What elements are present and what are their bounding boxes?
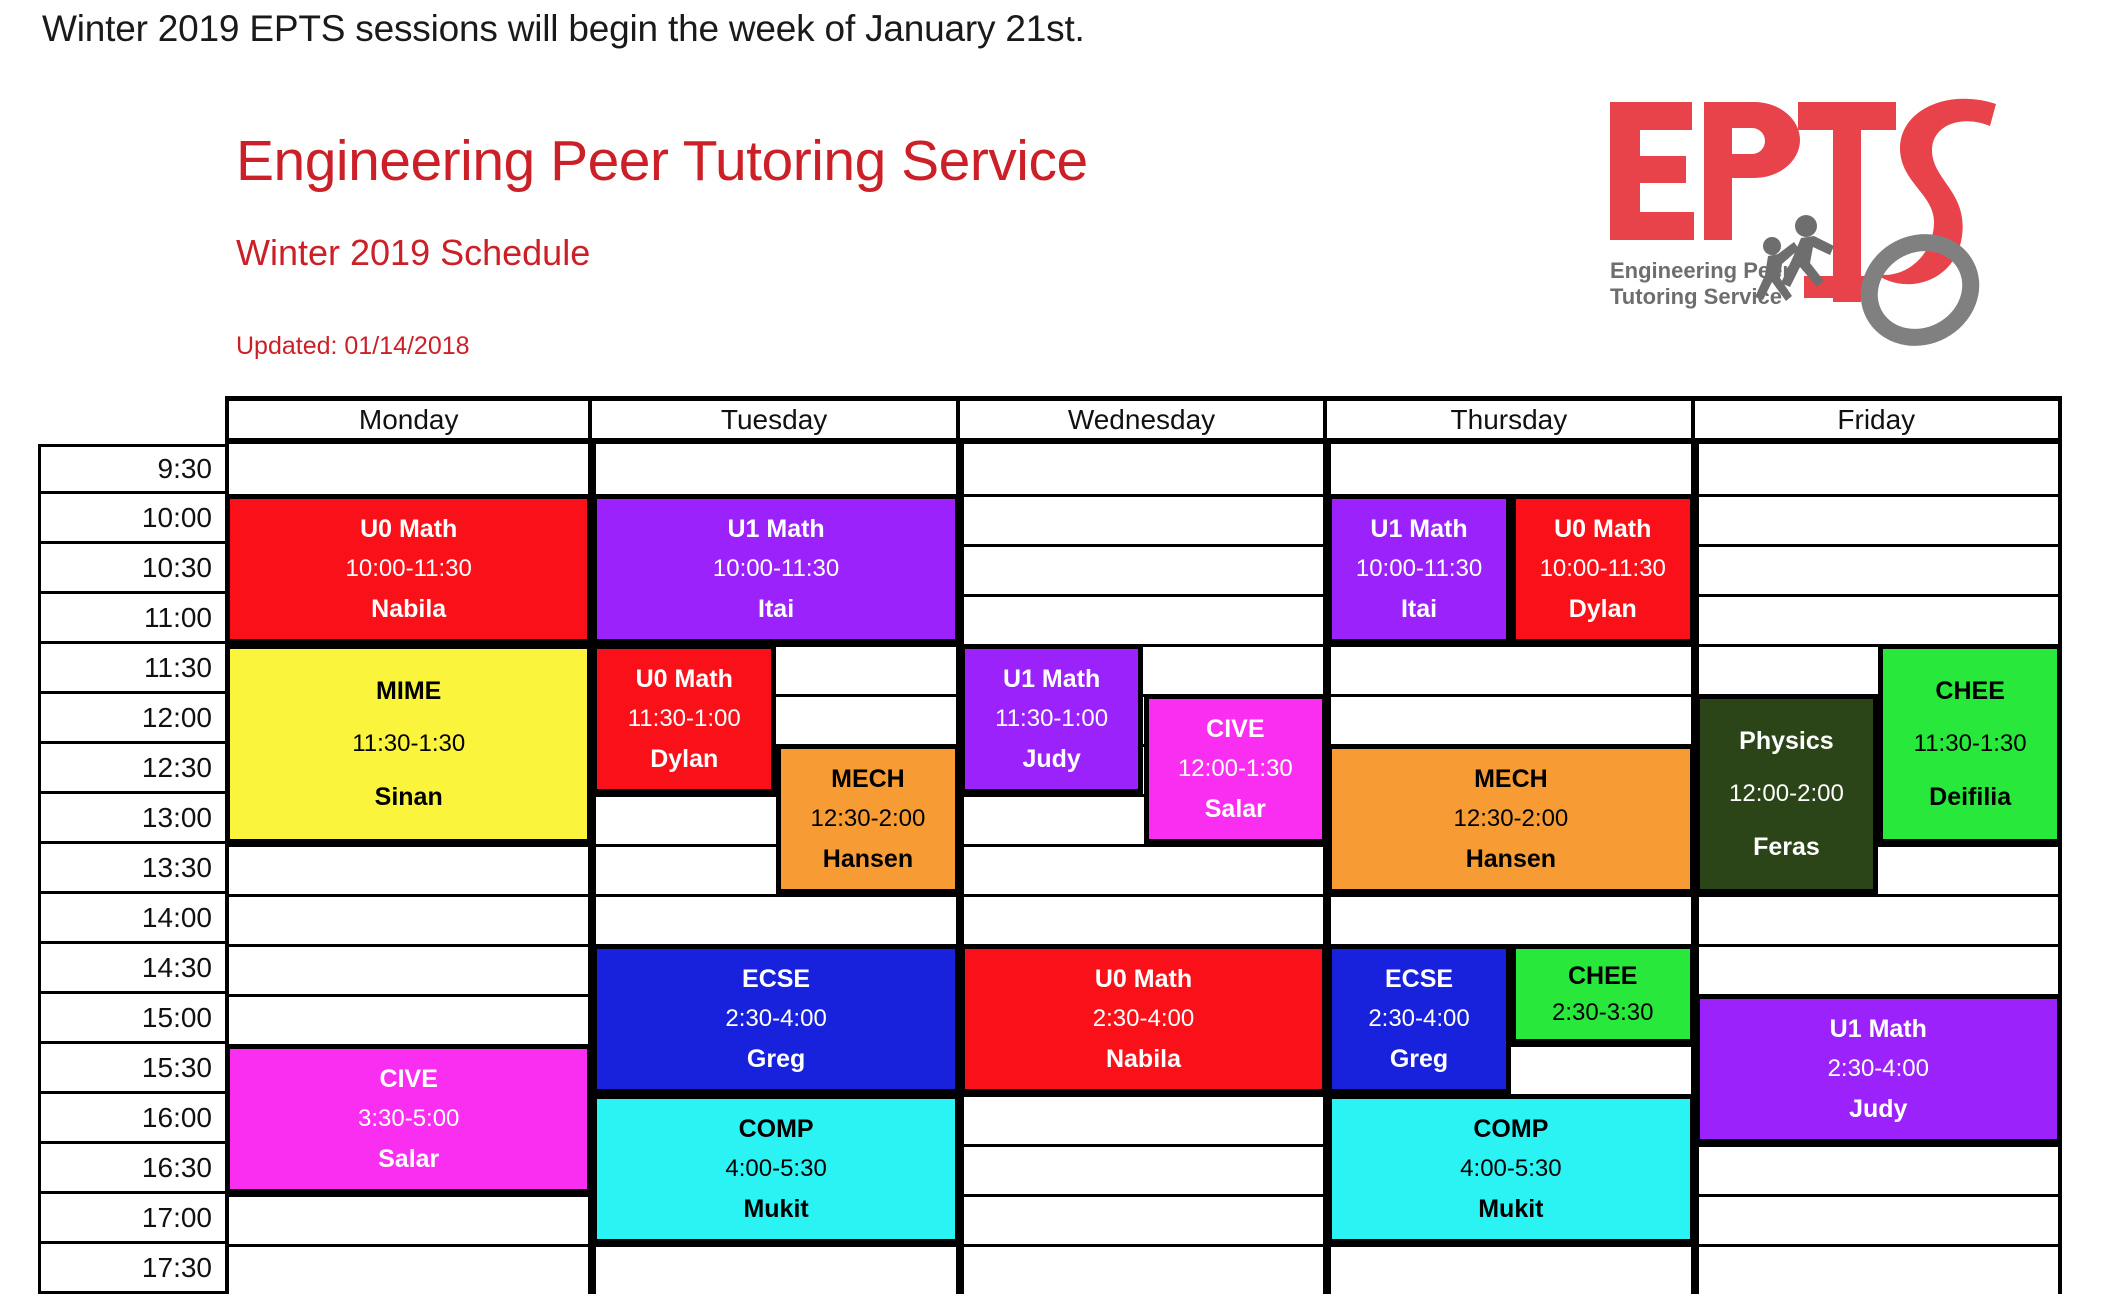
event-time: 12:00-2:00 — [1729, 781, 1844, 806]
event-course: U1 Math — [1003, 666, 1100, 692]
time-label-11-30: 11:30 — [38, 644, 229, 694]
event-time: 12:00-1:30 — [1178, 756, 1293, 781]
event-time: 2:30-4:00 — [725, 1006, 826, 1031]
grid-row-line — [225, 894, 2062, 897]
announcement-banner: Winter 2019 EPTS sessions will begin the… — [42, 8, 1085, 50]
event-time: 11:30-1:30 — [352, 731, 465, 756]
event-block[interactable]: Physics12:00-2:00Feras — [1695, 694, 1879, 894]
time-label-10-00: 10:00 — [38, 494, 229, 544]
event-time: 10:00-11:30 — [346, 556, 472, 581]
time-column: 9:3010:0010:3011:0011:3012:0012:3013:001… — [38, 444, 229, 1294]
time-label-17-30: 17:30 — [38, 1244, 229, 1294]
event-tutor: Judy — [1022, 746, 1080, 772]
event-course: U1 Math — [727, 516, 824, 542]
event-course: CHEE — [1568, 963, 1637, 989]
day-grid-body: U0 Math10:00-11:30NabilaMIME11:30-1:30Si… — [225, 444, 2062, 1294]
event-block[interactable]: U1 Math2:30-4:00Judy — [1695, 994, 2062, 1144]
day-header-thursday: Thursday — [1327, 401, 1694, 438]
event-tutor: Itai — [1401, 596, 1437, 622]
time-label-16-30: 16:30 — [38, 1144, 229, 1194]
event-block[interactable]: U1 Math10:00-11:30Itai — [592, 494, 959, 644]
event-course: CIVE — [1206, 716, 1264, 742]
logo-tagline-line2: Tutoring Service — [1610, 284, 1782, 309]
event-course: ECSE — [1385, 966, 1453, 992]
event-block[interactable]: COMP4:00-5:30Mukit — [1327, 1094, 1694, 1244]
updated-date: Updated: 01/14/2018 — [236, 332, 470, 361]
time-label-16-00: 16:00 — [38, 1094, 229, 1144]
day-header-tuesday: Tuesday — [592, 401, 959, 438]
event-block[interactable]: COMP4:00-5:30Mukit — [592, 1094, 959, 1244]
event-course: MIME — [376, 678, 441, 704]
event-time: 12:30-2:00 — [811, 806, 926, 831]
event-block[interactable]: MECH12:30-2:00Hansen — [1327, 744, 1694, 894]
event-course: U0 Math — [360, 516, 457, 542]
event-block[interactable]: CHEE2:30-3:30 — [1511, 944, 1695, 1044]
event-time: 10:00-11:30 — [713, 556, 839, 581]
event-time: 11:30-1:00 — [628, 706, 741, 731]
time-label-10-30: 10:30 — [38, 544, 229, 594]
event-tutor: Deifilia — [1929, 784, 2011, 810]
event-course: MECH — [831, 766, 905, 792]
event-time: 4:00-5:30 — [1460, 1156, 1561, 1181]
event-tutor: Hansen — [1466, 846, 1556, 872]
time-label-17-00: 17:00 — [38, 1194, 229, 1244]
grid-row-line — [225, 1194, 2062, 1197]
event-course: U0 Math — [1554, 516, 1651, 542]
event-time: 12:30-2:00 — [1454, 806, 1569, 831]
event-block[interactable]: U1 Math10:00-11:30Itai — [1327, 494, 1511, 644]
time-label-14-30: 14:30 — [38, 944, 229, 994]
event-block[interactable]: U1 Math11:30-1:00Judy — [960, 644, 1144, 794]
page-subtitle: Winter 2019 Schedule — [236, 232, 590, 274]
event-time: 10:00-11:30 — [1356, 556, 1482, 581]
time-label-9-30: 9:30 — [38, 444, 229, 494]
day-header-row: MondayTuesdayWednesdayThursdayFriday — [225, 396, 2062, 444]
event-course: MECH — [1474, 766, 1548, 792]
event-tutor: Hansen — [823, 846, 913, 872]
page-title: Engineering Peer Tutoring Service — [236, 128, 1088, 194]
time-label-14-00: 14:00 — [38, 894, 229, 944]
event-tutor: Greg — [1390, 1046, 1448, 1072]
event-tutor: Judy — [1849, 1096, 1907, 1122]
event-time: 10:00-11:30 — [1540, 556, 1666, 581]
event-course: ECSE — [742, 966, 810, 992]
event-time: 11:30-1:00 — [995, 706, 1108, 731]
event-course: U1 Math — [1830, 1016, 1927, 1042]
time-label-12-00: 12:00 — [38, 694, 229, 744]
event-block[interactable]: ECSE2:30-4:00Greg — [1327, 944, 1511, 1094]
event-tutor: Mukit — [743, 1196, 808, 1222]
grid-row-line — [225, 1244, 2062, 1247]
event-block[interactable]: MIME11:30-1:30Sinan — [225, 644, 592, 844]
event-time: 2:30-3:30 — [1552, 1000, 1653, 1025]
event-course: U0 Math — [1095, 966, 1192, 992]
time-label-12-30: 12:30 — [38, 744, 229, 794]
event-course: CIVE — [380, 1066, 438, 1092]
event-block[interactable]: U0 Math11:30-1:00Dylan — [592, 644, 776, 794]
event-block[interactable]: CHEE11:30-1:30Deifilia — [1878, 644, 2062, 844]
event-tutor: Salar — [378, 1146, 439, 1172]
event-tutor: Dylan — [1569, 596, 1637, 622]
time-label-15-00: 15:00 — [38, 994, 229, 1044]
event-block[interactable]: CIVE12:00-1:30Salar — [1144, 694, 1328, 844]
event-tutor: Feras — [1753, 834, 1820, 860]
event-tutor: Nabila — [371, 596, 446, 622]
event-block[interactable]: ECSE2:30-4:00Greg — [592, 944, 959, 1094]
event-time: 2:30-4:00 — [1368, 1006, 1469, 1031]
day-column-wednesday — [960, 444, 1327, 1294]
event-course: Physics — [1739, 728, 1834, 754]
day-header-wednesday: Wednesday — [960, 401, 1327, 438]
event-time: 11:30-1:30 — [1914, 731, 2027, 756]
event-tutor: Salar — [1205, 796, 1266, 822]
event-time: 2:30-4:00 — [1828, 1056, 1929, 1081]
event-tutor: Sinan — [375, 784, 443, 810]
day-header-friday: Friday — [1695, 401, 2062, 438]
event-course: U1 Math — [1370, 516, 1467, 542]
time-label-11-00: 11:00 — [38, 594, 229, 644]
logo-tagline-line1: Engineering Peer — [1610, 258, 1791, 283]
time-label-15-30: 15:30 — [38, 1044, 229, 1094]
event-course: COMP — [739, 1116, 814, 1142]
schedule-grid: MondayTuesdayWednesdayThursdayFriday 9:3… — [38, 396, 2062, 1268]
event-tutor: Itai — [758, 596, 794, 622]
schedule-page: Winter 2019 EPTS sessions will begin the… — [0, 0, 2102, 1294]
event-block[interactable]: U0 Math10:00-11:30Nabila — [225, 494, 592, 644]
event-tutor: Mukit — [1478, 1196, 1543, 1222]
event-block[interactable]: CIVE3:30-5:00Salar — [225, 1044, 592, 1194]
event-tutor: Nabila — [1106, 1046, 1181, 1072]
event-time: 2:30-4:00 — [1093, 1006, 1194, 1031]
day-header-monday: Monday — [225, 401, 592, 438]
event-course: U0 Math — [636, 666, 733, 692]
epts-logo: Engineering Peer Tutoring Service — [1592, 62, 2012, 362]
time-label-13-30: 13:30 — [38, 844, 229, 894]
event-time: 3:30-5:00 — [358, 1106, 459, 1131]
event-block[interactable]: U0 Math2:30-4:00Nabila — [960, 944, 1327, 1094]
event-time: 4:00-5:30 — [725, 1156, 826, 1181]
event-block[interactable]: MECH12:30-2:00Hansen — [776, 744, 960, 894]
event-tutor: Dylan — [650, 746, 718, 772]
event-tutor: Greg — [747, 1046, 805, 1072]
event-course: COMP — [1473, 1116, 1548, 1142]
event-course: CHEE — [1935, 678, 2004, 704]
event-block[interactable]: U0 Math10:00-11:30Dylan — [1511, 494, 1695, 644]
time-label-13-00: 13:00 — [38, 794, 229, 844]
